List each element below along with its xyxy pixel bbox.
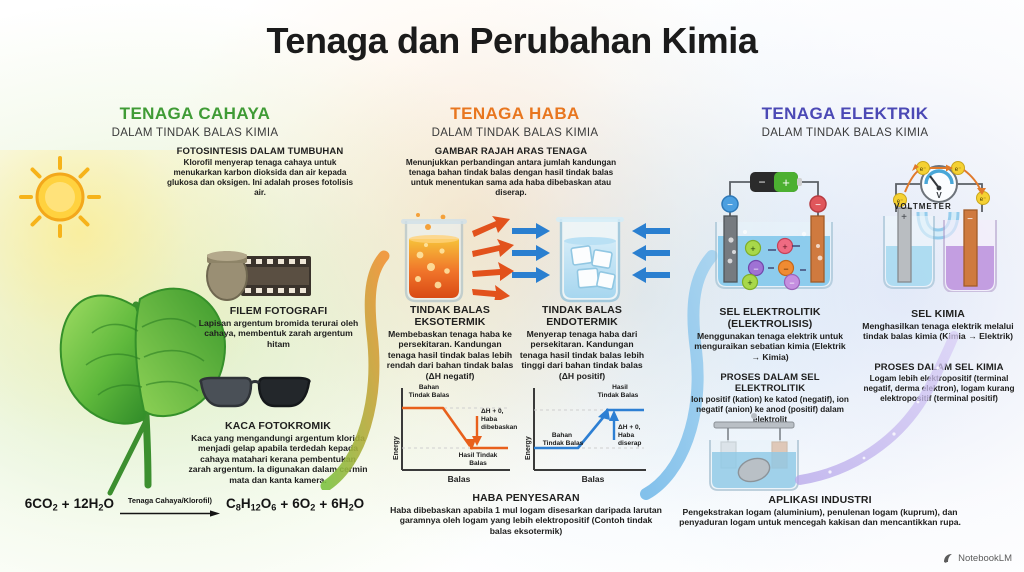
chart-endothermic-energy-profile: Energy Hasil Tindak Balas ΔH + 0, Haba d… — [520, 384, 650, 488]
block-endotermik-title-l1: TINDAK BALAS — [517, 304, 647, 316]
chart-exo-xlabel: Balas — [396, 474, 522, 484]
svg-text:+: + — [782, 175, 790, 190]
chart-exo-reactant-l1: Bahan — [405, 384, 453, 392]
svg-text:−: − — [727, 200, 733, 211]
sun-icon — [18, 155, 102, 239]
block-aplikasi-industri: APLIKASI INDUSTRI Pengekstrakan logam (a… — [672, 494, 968, 528]
svg-text:+: + — [750, 244, 755, 254]
block-aplikasi-industri-body: Pengekstrakan logam (aluminium), penulen… — [672, 507, 968, 528]
svg-text:+: + — [782, 242, 787, 252]
block-endotermik: TINDAK BALAS ENDOTERMIK Menyerap tenaga … — [517, 304, 647, 381]
equation-plus-2: + — [280, 497, 288, 512]
block-aplikasi-industri-title: APLIKASI INDUSTRI — [672, 494, 968, 506]
chart-endo-product-l2: Tindak Balas — [588, 392, 648, 400]
block-endotermik-body: Menyerap tenaga haba dari persekitaran. … — [517, 329, 647, 381]
chart-exo-ylabel: Energy — [393, 436, 400, 460]
block-fotosintesis-title: FOTOSINTESIS DALAM TUMBUHAN — [160, 146, 360, 157]
equation-arrow-line — [120, 505, 220, 512]
ice-beaker-icon — [552, 203, 628, 305]
equation-arrow-label: Tenaga Cahaya/Klorofil) — [128, 497, 212, 504]
equation-product-3: 6H2O — [331, 496, 364, 513]
block-sel-elektrolitik-title-l1: SEL ELEKTROLITIK — [692, 306, 848, 318]
svg-text:−: − — [967, 214, 973, 225]
block-eksotermik-title-l1: TINDAK BALAS — [386, 304, 514, 316]
sunglasses-icon — [195, 372, 315, 414]
notebooklm-logo-icon — [943, 553, 954, 564]
column-subheading-cahaya: DALAM TINDAK BALAS KIMIA — [30, 127, 360, 139]
svg-text:+: + — [901, 212, 907, 223]
photosynthesis-equation: 6CO2 + 12H2O Tenaga Cahaya/Klorofil) C8H… — [22, 496, 367, 513]
heat-absorb-arrows-left — [512, 218, 554, 296]
column-subheading-elektrik: DALAM TINDAK BALAS KIMIA — [680, 127, 1010, 139]
equation-reactant-1: 6CO2 — [25, 496, 58, 513]
svg-text:e⁻: e⁻ — [980, 197, 987, 203]
column-header-elektrik: TENAGA ELEKTRIK DALAM TINDAK BALAS KIMIA — [680, 104, 1010, 139]
block-sel-kimia-title: SEL KIMIA — [858, 308, 1018, 320]
voltmeter-dial-letter: V — [936, 191, 942, 200]
notebooklm-watermark-label: NotebookLM — [958, 553, 1012, 564]
galvanic-cell-diagram: V e⁻e⁻e⁻e⁻ + − — [862, 158, 1014, 292]
column-header-cahaya: TENAGA CAHAYA DALAM TINDAK BALAS KIMIA — [30, 104, 360, 139]
svg-text:−: − — [783, 264, 788, 274]
column-heading-elektrik: TENAGA ELEKTRIK — [680, 104, 1010, 124]
block-eksotermik: TINDAK BALAS EKSOTERMIK Membebaskan tena… — [386, 304, 514, 381]
equation-plus-1: + — [62, 497, 70, 512]
equation-product-2: 6O2 — [292, 496, 315, 513]
equation-product-1: C8H12O6 — [226, 496, 276, 513]
chart-exo-delta-l3: dibebaskan — [481, 424, 517, 432]
block-haba-penyesaran-title: HABA PENYESARAN — [390, 492, 662, 504]
equation-arrow: Tenaga Cahaya/Klorofil) — [118, 497, 222, 512]
chart-exo-reactant-l2: Tindak Balas — [398, 392, 460, 400]
film-roll-icon — [205, 250, 317, 302]
svg-text:−: − — [758, 175, 765, 189]
page-title: Tenaga dan Perubahan Kimia — [0, 20, 1024, 62]
chart-exo-delta-l1: ΔH + 0, — [481, 408, 515, 416]
block-eksotermik-title-l2: EKSOTERMIK — [386, 316, 514, 328]
column-heading-haba: TENAGA HABA — [350, 104, 680, 124]
column-header-haba: TENAGA HABA DALAM TINDAK BALAS KIMIA — [350, 104, 680, 139]
chart-endo-ylabel: Energy — [525, 436, 532, 460]
equation-reactant-2: 12H2O — [74, 496, 114, 513]
svg-text:−: − — [753, 264, 758, 274]
svg-text:e⁻: e⁻ — [955, 167, 962, 173]
block-sel-elektrolitik-title-l2: (ELEKTROLISIS) — [692, 318, 848, 330]
voltmeter-label: VOLTMETER — [894, 202, 952, 211]
svg-text:−: − — [815, 200, 821, 211]
chart-endo-xlabel: Balas — [528, 474, 658, 484]
block-rajah-aras: GAMBAR RAJAH ARAS TENAGA Menunjukkan per… — [398, 146, 624, 197]
chart-exothermic-energy-profile: Energy Bahan Tindak Balas ΔH + 0, Haba d… — [388, 384, 514, 488]
block-rajah-aras-body: Menunjukkan perbandingan antara jumlah k… — [398, 158, 624, 197]
hot-beaker-icon — [398, 205, 470, 305]
equation-plus-3: + — [319, 497, 327, 512]
notebooklm-watermark: NotebookLM — [943, 553, 1012, 564]
block-fotosintesis-body: Klorofil menyerap tenaga cahaya untuk me… — [160, 158, 360, 197]
block-fotosintesis: FOTOSINTESIS DALAM TUMBUHAN Klorofil men… — [160, 146, 360, 197]
chart-exo-product-l2: Balas — [450, 460, 506, 468]
chart-exo-delta-l2: Haba — [481, 416, 515, 424]
chart-exo-plot — [388, 384, 514, 488]
block-haba-penyesaran: HABA PENYESARAN Haba dibebaskan apabila … — [390, 492, 662, 536]
svg-text:e⁻: e⁻ — [920, 167, 927, 173]
flow-arrow-elektrik-loop — [790, 330, 960, 490]
block-eksotermik-body: Membebaskan tenaga haba ke persekitaran.… — [386, 329, 514, 381]
electrolytic-cell-diagram: − + − − + + − − + − — [700, 160, 848, 292]
chart-endo-product-l1: Hasil — [594, 384, 646, 392]
column-heading-cahaya: TENAGA CAHAYA — [30, 104, 360, 124]
svg-text:+: + — [747, 278, 752, 288]
infographic-canvas: Tenaga dan Perubahan Kimia TENAGA CAHAYA… — [0, 0, 1024, 572]
chart-endo-reactant-l2: Tindak Balas — [534, 440, 592, 448]
chart-endo-reactant-l1: Bahan — [540, 432, 584, 440]
block-rajah-aras-title: GAMBAR RAJAH ARAS TENAGA — [398, 146, 624, 157]
column-subheading-haba: DALAM TINDAK BALAS KIMIA — [350, 127, 680, 139]
svg-text:−: − — [789, 278, 794, 288]
block-endotermik-title-l2: ENDOTERMIK — [517, 316, 647, 328]
chart-exo-product-l1: Hasil Tindak — [450, 452, 506, 460]
block-haba-penyesaran-body: Haba dibebaskan apabila 1 mul logam dise… — [390, 505, 662, 536]
